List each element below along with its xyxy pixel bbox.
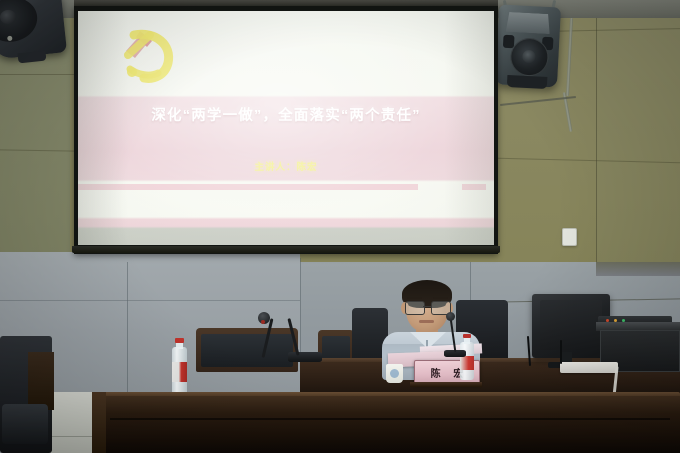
bottle-cap [463, 334, 471, 338]
slide-subtitle-presenter: 主讲人：陈宏 [78, 159, 494, 173]
wall-switch[interactable] [562, 228, 577, 246]
conference-room-photo: 深化“两学一做”，全面落实“两个责任” 主讲人：陈宏 [0, 0, 680, 453]
cup-logo-icon [390, 369, 399, 378]
baseboard [596, 262, 680, 276]
microphone-head [446, 312, 455, 321]
chair-cushion [2, 404, 48, 444]
presentation-slide: 深化“两学一做”，全面落实“两个责任” 主讲人：陈宏 [78, 11, 494, 245]
water-bottle-desk [460, 334, 474, 380]
eyeglasses-icon [405, 301, 450, 313]
bottle-label [460, 356, 474, 370]
slide-bottom-notch [418, 184, 462, 190]
slide-bottom-notch [486, 184, 494, 190]
mouth [419, 320, 434, 323]
podium-desk-end [92, 392, 106, 453]
water-bottle-foreground [172, 338, 187, 396]
glasses-bridge [423, 306, 431, 307]
wall-panel-seam [0, 300, 300, 301]
lens-left [405, 301, 425, 315]
chair-armrest [28, 352, 54, 410]
right-wall-return [596, 18, 680, 270]
cable [560, 340, 562, 364]
power-strip [560, 362, 618, 373]
wall-corner-edge [596, 18, 597, 270]
podium-desk-front [96, 396, 680, 453]
slide-title: 深化“两学一做”，全面落实“两个责任” [78, 104, 494, 125]
wall-seam [0, 74, 76, 75]
bottle-label [172, 362, 187, 382]
chair-cushion [201, 334, 293, 367]
wall-panel-seam [127, 262, 128, 402]
eyebrow-left [407, 297, 422, 299]
speaker-base [507, 75, 548, 89]
nameplate-stand [410, 382, 482, 387]
screen-bottom-bar [72, 246, 500, 253]
eyebrow-right [433, 297, 448, 299]
bottle-cap [175, 338, 184, 343]
cpc-party-emblem-icon [116, 25, 184, 87]
monitor-rear-panel [540, 300, 602, 350]
microphone-base [288, 352, 322, 362]
speaker-horn-icon [506, 12, 551, 34]
microphone-tip [261, 320, 265, 324]
podium-desk-groove [110, 418, 670, 420]
projection-screen-surface: 深化“两学一做”，全面落实“两个责任” 主讲人：陈宏 [78, 11, 494, 245]
pa-speaker-right [495, 4, 561, 87]
